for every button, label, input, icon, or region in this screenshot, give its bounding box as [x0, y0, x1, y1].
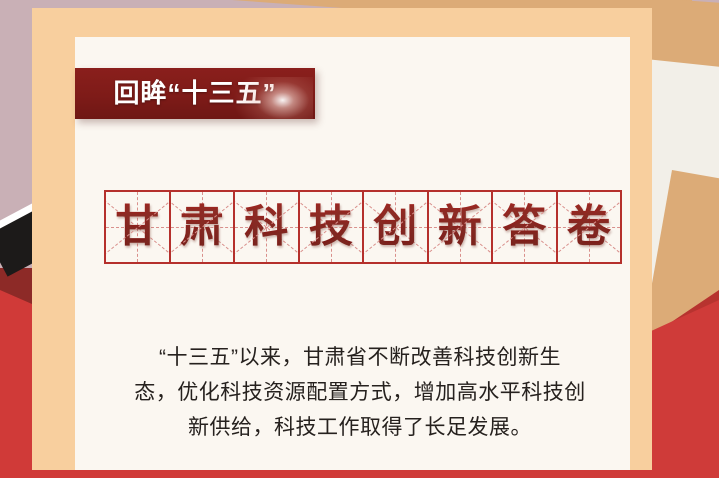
- body-line: “十三五”以来，甘肃省不断改善科技创新生: [110, 340, 610, 375]
- title-character: 卷: [558, 192, 621, 262]
- body-line: 新供给，科技工作取得了长足发展。: [110, 410, 610, 445]
- title-character: 答: [493, 192, 556, 262]
- title-grid-cell: 甘: [106, 192, 171, 262]
- title-character: 技: [300, 192, 363, 262]
- title-character: 甘: [106, 192, 169, 262]
- title-grid-cell: 创: [364, 192, 429, 262]
- title-character: 肃: [171, 192, 234, 262]
- header-banner-label: 回眸“十三五”: [75, 68, 315, 119]
- title-character: 新: [429, 192, 492, 262]
- title-grid-cell: 答: [493, 192, 558, 262]
- title-grid-cell: 卷: [558, 192, 621, 262]
- title-character: 创: [364, 192, 427, 262]
- title-grid-cell: 新: [429, 192, 494, 262]
- header-banner: 回眸“十三五”: [75, 68, 315, 119]
- body-line: 态，优化科技资源配置方式，增加高水平科技创: [110, 375, 610, 410]
- title-grid: 甘 肃 科 技 创 新 答: [104, 190, 622, 264]
- title-grid-cell: 技: [300, 192, 365, 262]
- title-character: 科: [235, 192, 298, 262]
- body-paragraph: “十三五”以来，甘肃省不断改善科技创新生 态，优化科技资源配置方式，增加高水平科…: [110, 340, 610, 445]
- poster-root: 回眸“十三五” 甘 肃 科 技 创: [0, 0, 719, 478]
- title-grid-cell: 肃: [171, 192, 236, 262]
- title-grid-cell: 科: [235, 192, 300, 262]
